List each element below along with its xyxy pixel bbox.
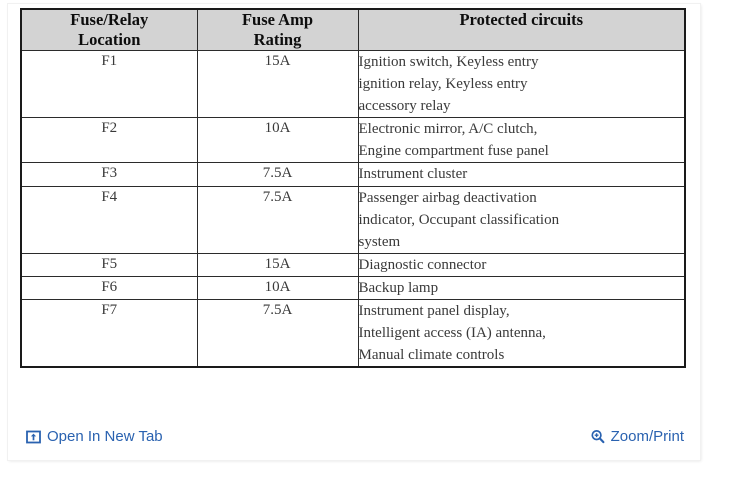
table-row: F6 10A Backup lamp <box>21 276 685 299</box>
cell-location: F5 <box>21 253 197 276</box>
fuse-relay-table: Fuse/Relay Location Fuse Amp Rating Prot… <box>20 8 686 368</box>
open-in-new-tab-label: Open In New Tab <box>47 428 163 445</box>
column-header-protected-circuits: Protected circuits <box>358 9 685 51</box>
open-in-new-tab-link[interactable]: Open In New Tab <box>26 428 163 445</box>
column-header-fuse-amp-rating: Fuse Amp Rating <box>197 9 358 51</box>
cell-rating: 7.5A <box>197 186 358 253</box>
cell-location: F1 <box>21 51 197 118</box>
table-row: F7 7.5A Instrument panel display, Intell… <box>21 299 685 367</box>
image-card: Fuse/Relay Location Fuse Amp Rating Prot… <box>8 4 700 460</box>
cell-rating: 7.5A <box>197 163 358 186</box>
table-row: F2 10A Electronic mirror, A/C clutch, En… <box>21 118 685 163</box>
cell-circuits: Instrument panel display, Intelligent ac… <box>358 299 685 367</box>
table-head: Fuse/Relay Location Fuse Amp Rating Prot… <box>21 9 685 51</box>
table-row: F4 7.5A Passenger airbag deactivation in… <box>21 186 685 253</box>
table-body: F1 15A Ignition switch, Keyless entry ig… <box>21 51 685 367</box>
cell-rating: 15A <box>197 51 358 118</box>
cell-circuits: Backup lamp <box>358 276 685 299</box>
cell-location: F7 <box>21 299 197 367</box>
cell-rating: 10A <box>197 276 358 299</box>
cell-rating: 7.5A <box>197 299 358 367</box>
magnifier-plus-icon <box>590 429 605 444</box>
cell-rating: 10A <box>197 118 358 163</box>
cell-location: F2 <box>21 118 197 163</box>
external-link-icon <box>26 429 41 444</box>
table-row: F5 15A Diagnostic connector <box>21 253 685 276</box>
cell-location: F6 <box>21 276 197 299</box>
cell-location: F3 <box>21 163 197 186</box>
cell-rating: 15A <box>197 253 358 276</box>
zoom-print-label: Zoom/Print <box>611 428 684 445</box>
cell-circuits: Instrument cluster <box>358 163 685 186</box>
image-actions-bar: Open In New Tab Zoom/Print <box>20 428 684 454</box>
zoom-print-link[interactable]: Zoom/Print <box>590 428 684 445</box>
page-root: Fuse/Relay Location Fuse Amp Rating Prot… <box>0 0 730 479</box>
cell-circuits: Ignition switch, Keyless entry ignition … <box>358 51 685 118</box>
column-header-fuse-relay-location: Fuse/Relay Location <box>21 9 197 51</box>
table-row: F3 7.5A Instrument cluster <box>21 163 685 186</box>
table-header-row: Fuse/Relay Location Fuse Amp Rating Prot… <box>21 9 685 51</box>
cell-circuits: Diagnostic connector <box>358 253 685 276</box>
cell-location: F4 <box>21 186 197 253</box>
cell-circuits: Passenger airbag deactivation indicator,… <box>358 186 685 253</box>
cell-circuits: Electronic mirror, A/C clutch, Engine co… <box>358 118 685 163</box>
table-row: F1 15A Ignition switch, Keyless entry ig… <box>21 51 685 118</box>
fuse-table-container: Fuse/Relay Location Fuse Amp Rating Prot… <box>20 8 684 368</box>
